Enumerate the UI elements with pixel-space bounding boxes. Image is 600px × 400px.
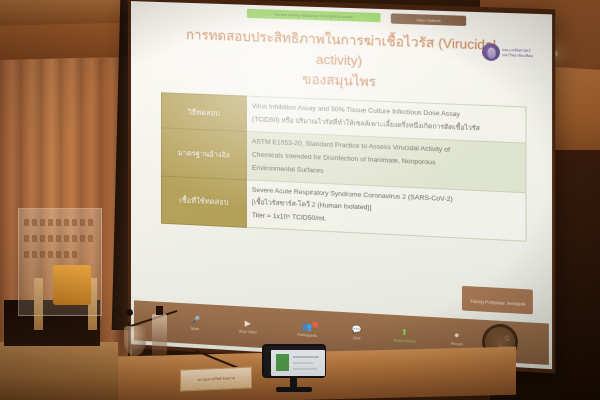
smartphone-screen[interactable] — [271, 350, 325, 376]
acrylic-sign-text-line-2 — [24, 235, 96, 242]
zoom-control-record-label: Record — [451, 342, 463, 347]
smartphone-screen-line-1 — [293, 356, 319, 358]
slide-data-table: วิธีทดสอบ Virus Inhibition Assay and 50%… — [161, 93, 527, 242]
slide-title: การทดสอบประสิทธิภาพในการฆ่าเชื้อไวรัส (V… — [147, 24, 537, 98]
water-bottle — [152, 314, 167, 356]
smartphone-screen-line-3 — [293, 368, 317, 370]
zoom-control-participants-label: Participants — [297, 333, 316, 338]
zoom-screenshare-notification: You are viewing Nattapong Sanongkiet's s… — [247, 9, 381, 22]
university-logo: คณะเภสัชศาสตร์ มหาวิทยาลัยมหิดล — [482, 43, 533, 62]
zoom-control-share-screen[interactable]: ⬆ Share Screen — [387, 328, 422, 344]
chat-icon: 💬 — [351, 326, 361, 335]
participants-icon: 👥 — [302, 323, 312, 332]
smartphone-screen-green-block — [276, 354, 289, 371]
smartphone-body — [262, 344, 326, 378]
drinking-glass — [124, 326, 146, 356]
zoom-view-options-button[interactable]: View Options — [391, 13, 466, 26]
zoom-control-share-label: Share Screen — [393, 338, 416, 343]
tripod-legs — [276, 387, 312, 392]
zoom-control-video[interactable]: ▶ Stop Video — [231, 319, 266, 335]
conference-room-photo: You are viewing Nattapong Sanongkiet's s… — [0, 0, 600, 400]
university-seal-icon — [482, 43, 500, 61]
microphone-icon: 🎤 — [190, 317, 200, 326]
zoom-control-chat-label: Chat — [353, 336, 361, 341]
zoom-control-mute-label: Mute — [191, 327, 199, 331]
zoom-view-options-label: View Options — [416, 17, 441, 23]
podium-base — [0, 342, 118, 400]
acrylic-standing-sign — [18, 208, 102, 316]
smartphone-screen-line-2 — [293, 362, 313, 364]
presentation-slide: คณะเภสัชศาสตร์ มหาวิทยาลัยมหิดล การทดสอบ… — [147, 24, 537, 325]
acrylic-sign-text-line-3 — [24, 251, 79, 258]
row-header-virus: เชื้อที่ใช้ทดสอบ — [162, 176, 247, 228]
acrylic-sign-text-line-1 — [24, 219, 96, 226]
zoom-control-record[interactable]: ⏺ Record — [439, 331, 475, 347]
zoom-notification-text: You are viewing Nattapong Sanongkiet's s… — [274, 12, 352, 19]
microphone-head-icon — [126, 309, 133, 316]
share-screen-icon: ⬆ — [401, 329, 408, 338]
zoom-control-apps[interactable]: □ Apps — [540, 337, 552, 354]
video-camera-icon: ▶ — [245, 320, 251, 328]
zoom-control-participants[interactable]: 👥 Participants — [290, 322, 325, 338]
record-icon: ⏺ — [455, 332, 459, 340]
zoom-control-chat[interactable]: 💬 Chat — [339, 325, 374, 341]
logo-line-2: มหาวิทยาลัยมหิดล — [502, 53, 533, 58]
zoom-control-video-label: Stop Video — [239, 329, 257, 334]
speaker-nameplate-text: รศ.ภญ.ดร.สุรีวัลย์ วิเศษกาศ — [197, 376, 235, 383]
zoom-control-mute[interactable]: 🎤 Mute — [178, 316, 212, 332]
row-header-method: วิธีทดสอบ — [162, 93, 247, 131]
orange-bag — [53, 265, 91, 305]
slide-title-line-1: การทดสอบประสิทธิภาพในการฆ่าเชื้อไวรัส (V… — [186, 27, 496, 68]
university-logo-text: คณะเภสัชศาสตร์ มหาวิทยาลัยมหิดล — [502, 48, 533, 59]
slide-title-line-2: ของสมุนไพร — [173, 64, 509, 97]
row-header-standard: มาตรฐานอ้างอิง — [162, 128, 247, 180]
smartphone-on-tripod[interactable] — [258, 344, 330, 396]
speaker-nameplate: รศ.ภญ.ดร.สุรีวัลย์ วิเศษกาศ — [180, 366, 252, 391]
